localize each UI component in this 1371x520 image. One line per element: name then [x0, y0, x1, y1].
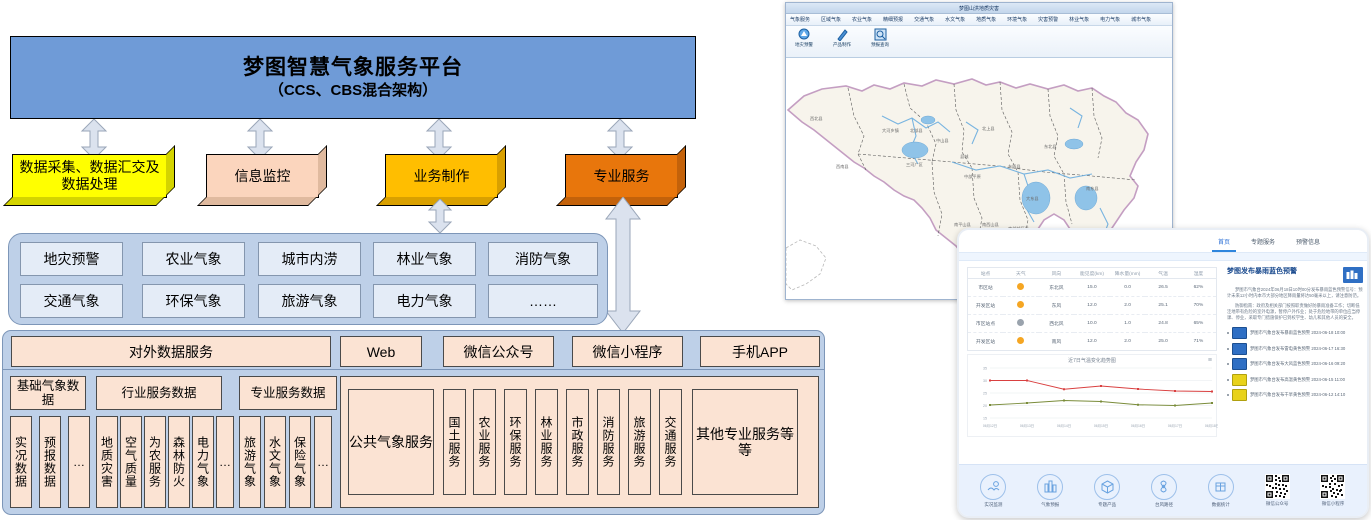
- blue-warning-icon: [1232, 358, 1247, 370]
- svg-text:25: 25: [983, 392, 987, 396]
- list-item[interactable]: 梦图市气象台发布干旱黄色预警 2024-06-12 14:10: [1227, 389, 1363, 401]
- data-item-yubao[interactable]: 预报数据: [39, 416, 61, 508]
- chart-menu-icon[interactable]: ≡: [1208, 358, 1212, 364]
- channel-panel: 对外数据服务 Web 微信公众号 微信小程序 手机APP: [2, 330, 825, 370]
- channel-wechat-official[interactable]: 微信公众号: [443, 336, 554, 367]
- toolbar-label: 预报查询: [871, 42, 889, 48]
- col-humidity: 湿度: [1181, 268, 1217, 279]
- platform-subtitle: （CCS、CBS混合架构）: [269, 81, 437, 101]
- alert-paragraph-2: 防御指南：政府及相关部门按照职责做好防暴雨准备工作；切断低洼地带有危险的室外电源…: [1227, 303, 1363, 321]
- data-item-professional-more[interactable]: …: [314, 416, 332, 508]
- footer-item-forecast[interactable]: 气象预报: [1037, 474, 1063, 508]
- footer-label: 实况监测: [984, 502, 1002, 508]
- sun-icon: [1017, 337, 1024, 344]
- col-station: 站点: [968, 268, 1004, 279]
- layer-box-label: 专业服务: [594, 168, 650, 185]
- toolbar-button-geo-hazard[interactable]: 地灾预警: [791, 28, 817, 48]
- bullet-icon: [1227, 348, 1229, 350]
- channel-mobile-app[interactable]: 手机APP: [700, 336, 820, 367]
- layer-box-label: 信息监控: [235, 168, 291, 185]
- forecast-bars-icon: [1037, 474, 1063, 500]
- footer-item-wechat-miniapp[interactable]: 微信小程序: [1320, 474, 1345, 507]
- chart-title: 近7日气温变化趋势图: [968, 355, 1216, 364]
- data-item-kongqizhiliang[interactable]: 空气质量: [120, 416, 142, 508]
- cell-visibility: 12.0: [1074, 333, 1110, 351]
- col-visibility: 能见度(km): [1074, 268, 1110, 279]
- dashboard-left-column: 站点 天气 风向 能见度(km) 降水量(mm) 气温 湿度 市区站: [967, 267, 1217, 437]
- svg-text:西北县: 西北县: [810, 115, 823, 122]
- menu-item[interactable]: 灾害预警: [1038, 16, 1058, 23]
- table-row[interactable]: 开发区站 东风 12.0 2.0 25.1 70%: [968, 297, 1217, 315]
- footer-label: 数据统计: [1212, 502, 1230, 508]
- observation-table[interactable]: 站点 天气 风向 能见度(km) 降水量(mm) 气温 湿度 市区站: [967, 267, 1217, 351]
- forecast-query-tool-icon: [874, 28, 887, 41]
- cell-station: 开发区站: [968, 333, 1004, 351]
- cell-station: 市区站: [968, 279, 1004, 297]
- industry-chip-xiaofang[interactable]: 消防气象: [488, 242, 598, 276]
- service-linye[interactable]: 林业服务: [535, 389, 558, 495]
- cell-station: 市区站点: [968, 315, 1004, 333]
- footer-label: 专题产品: [1098, 502, 1116, 508]
- temperature-trend-chart[interactable]: 近7日气温变化趋势图 ≡ 152025303506月12日06月13日06月14…: [967, 354, 1217, 437]
- arrow-header-to-business-production: [421, 119, 457, 159]
- menu-item[interactable]: 电力气象: [1100, 16, 1120, 23]
- toolbar-label: 地灾预警: [795, 42, 813, 48]
- footer-item-typhoon[interactable]: 台风路径: [1151, 474, 1177, 508]
- industry-chip-dianli[interactable]: 电力气象: [373, 284, 476, 318]
- cell-visibility: 10.0: [1074, 315, 1110, 333]
- cell-wind: 东风: [1039, 297, 1075, 315]
- alert-title: 梦图发布暴雨蓝色预警: [1227, 267, 1297, 277]
- alert-item-text: 梦图市气象台发布大风蓝色预警 2024-06-16 09:20: [1250, 361, 1345, 367]
- table-row[interactable]: 市区站点 西北风 10.0 1.0 24.8 65%: [968, 315, 1217, 333]
- weather-observation-icon: [980, 474, 1006, 500]
- cell-wind: 东北风: [1039, 279, 1075, 297]
- cell-temp: 25.0: [1145, 333, 1181, 351]
- arrow-business-to-industry-panel: [423, 199, 457, 233]
- platform-header-box: 梦图智慧气象服务平台 （CCS、CBS混合架构）: [10, 36, 696, 119]
- svg-text:中部平原: 中部平原: [964, 173, 981, 180]
- toolbar-button-product-make[interactable]: 产品制作: [829, 28, 855, 48]
- layer-box-label: 业务制作: [414, 168, 470, 185]
- blue-warning-icon: [1232, 327, 1247, 339]
- alert-list: 梦图市气象台发布暴雨蓝色预警 2024-06-18 10:00 梦图市气象台发布…: [1227, 327, 1363, 401]
- cube-product-icon: [1094, 474, 1120, 500]
- service-huanbao[interactable]: 环保服务: [504, 389, 527, 495]
- industry-service-panel: 地灾预警 农业气象 城市内涝 林业气象 消防气象 交通气象 环保气象 旅游气象 …: [8, 233, 608, 325]
- layer-box-business-production[interactable]: 业务制作: [385, 154, 498, 198]
- neighbor-region: [786, 240, 826, 290]
- qr-code-icon: [1265, 474, 1290, 499]
- footer-item-wechat-official[interactable]: 微信公众号: [1265, 474, 1290, 507]
- data-group-title-basic: 基础气象数据: [10, 376, 86, 410]
- platform-title: 梦图智慧气象服务平台: [243, 55, 463, 81]
- cell-weather: [1003, 333, 1039, 351]
- list-item[interactable]: 梦图市气象台发布暴雨蓝色预警 2024-06-18 10:00: [1227, 327, 1363, 339]
- architecture-diagram: 梦图智慧气象服务平台 （CCS、CBS混合架构） 数据采集、数据汇交及数据处理 …: [0, 0, 840, 520]
- service-lvyou[interactable]: 旅游服务: [628, 389, 651, 495]
- bullet-icon: [1227, 363, 1229, 365]
- cell-weather: [1003, 315, 1039, 333]
- svg-text:15: 15: [983, 417, 987, 421]
- menu-item[interactable]: 交通气象: [914, 16, 934, 23]
- footer-label: 气象预报: [1041, 502, 1059, 508]
- cell-wind: 南风: [1039, 333, 1075, 351]
- cell-visibility: 12.0: [1074, 297, 1110, 315]
- blue-warning-icon: [1232, 343, 1247, 355]
- data-item-dianliqixiang[interactable]: 电力气象: [192, 416, 214, 508]
- layer-box-data-collection[interactable]: 数据采集、数据汇交及数据处理: [12, 154, 167, 198]
- yellow-warning-icon: [1232, 389, 1247, 401]
- svg-text:南平山县: 南平山县: [954, 221, 971, 228]
- layer-box-professional-service[interactable]: 专业服务: [565, 154, 678, 198]
- bullet-icon: [1227, 394, 1229, 396]
- alert-item-text: 梦图市气象台发布高温黄色预警 2024-06-15 11:00: [1250, 377, 1345, 383]
- menu-item[interactable]: 气象服务: [790, 16, 810, 23]
- channel-web[interactable]: Web: [340, 336, 422, 367]
- layer-box-info-monitoring[interactable]: 信息监控: [206, 154, 319, 198]
- svg-text:北部县: 北部县: [910, 127, 923, 134]
- yellow-warning-icon: [1232, 374, 1247, 386]
- industry-chip-more[interactable]: ……: [488, 284, 598, 318]
- dashboard-body: 站点 天气 风向 能见度(km) 降水量(mm) 气温 湿度 市区站: [959, 261, 1367, 468]
- industry-chip-dizai[interactable]: 地灾预警: [20, 242, 123, 276]
- footer-item-product[interactable]: 专题产品: [1094, 474, 1120, 508]
- data-item-shuiwenqixiang[interactable]: 水文气象: [264, 416, 286, 508]
- cell-station: 开发区站: [968, 297, 1004, 315]
- data-group-title-professional: 专业服务数据: [239, 376, 337, 410]
- data-source-panel: 基础气象数据 实况数据 预报数据 … 行业服务数据 地质灾害 空气质量 为农服务…: [2, 370, 825, 515]
- dashboard-footer-bar[interactable]: 实况监测 气象预报 专题产品 台风路径: [959, 464, 1367, 516]
- footer-item-statistics[interactable]: 数据统计: [1208, 474, 1234, 508]
- footer-item-observation[interactable]: 实况监测: [980, 474, 1006, 508]
- cell-precip: 0.0: [1110, 279, 1146, 297]
- menu-item[interactable]: 林业气象: [1069, 16, 1089, 23]
- data-item-lvyouqixiang[interactable]: 旅游气象: [239, 416, 261, 508]
- product-make-tool-icon: [836, 28, 849, 41]
- menu-item[interactable]: 农业气象: [852, 16, 872, 23]
- menu-item[interactable]: 地质气象: [976, 16, 996, 23]
- alert-header: 梦图发布暴雨蓝色预警: [1227, 267, 1363, 283]
- data-item-shikuang[interactable]: 实况数据: [10, 416, 32, 508]
- list-item[interactable]: 梦图市气象台发布雷电黄色预警 2024-06-17 16:30: [1227, 343, 1363, 355]
- svg-text:南西山县: 南西山县: [982, 221, 999, 228]
- footer-label: 微信小程序: [1322, 501, 1345, 507]
- svg-text:35: 35: [983, 367, 987, 371]
- sun-icon: [1017, 301, 1024, 308]
- svg-text:东北县: 东北县: [1044, 143, 1057, 150]
- alert-item-text: 梦图市气象台发布暴雨蓝色预警 2024-06-18 10:00: [1250, 330, 1345, 336]
- svg-text:中山县: 中山县: [936, 137, 949, 144]
- svg-text:北上县: 北上县: [982, 125, 995, 132]
- cell-temp: 26.5: [1145, 279, 1181, 297]
- nav-tab-alerts[interactable]: 预警信息: [1296, 237, 1320, 246]
- cell-humidity: 70%: [1181, 297, 1217, 315]
- qr-code-icon: [1320, 474, 1345, 499]
- table-row[interactable]: 市区站 东北风 15.0 0.0 26.5 62%: [968, 279, 1217, 297]
- arrow-header-to-data-collection: [76, 119, 112, 159]
- cell-temp: 25.1: [1145, 297, 1181, 315]
- svg-text:30: 30: [983, 379, 987, 383]
- menu-item[interactable]: 水文气象: [945, 16, 965, 23]
- data-item-senlinfanghuo[interactable]: 森林防火: [168, 416, 190, 508]
- map-window-title: 梦图山洪地质灾害: [959, 5, 999, 12]
- list-item[interactable]: 梦图市气象台发布大风蓝色预警 2024-06-16 09:20: [1227, 358, 1363, 370]
- industry-chip-nongye[interactable]: 农业气象: [142, 242, 245, 276]
- data-item-weinongfuwu[interactable]: 为农服务: [144, 416, 166, 508]
- dashboard-right-column: 梦图发布暴雨蓝色预警 梦图市气象台2024年06月18日10时00分发布暴雨蓝色…: [1227, 267, 1363, 405]
- service-xiaofang[interactable]: 消防服务: [597, 389, 620, 495]
- cloud-icon: [1017, 319, 1024, 326]
- data-item-basic-more[interactable]: …: [68, 416, 90, 508]
- footer-label: 台风路径: [1155, 502, 1173, 508]
- data-item-dizhizaihai[interactable]: 地质灾害: [96, 416, 118, 508]
- service-guotu[interactable]: 国土服务: [443, 389, 466, 495]
- typhoon-track-icon: [1151, 474, 1177, 500]
- cell-precip: 2.0: [1110, 297, 1146, 315]
- bullet-icon: [1227, 332, 1229, 334]
- layer-box-label: 数据采集、数据汇交及数据处理: [17, 159, 162, 193]
- svg-text:06月14日: 06月14日: [1057, 424, 1071, 428]
- toolbar-label: 产品制作: [833, 42, 851, 48]
- col-temp: 气温: [1145, 268, 1181, 279]
- data-item-baoxianqixiang[interactable]: 保险气象: [289, 416, 311, 508]
- arrow-header-to-info-monitoring: [242, 119, 278, 159]
- footer-label: 微信公众号: [1266, 501, 1289, 507]
- data-item-industry-more[interactable]: …: [216, 416, 234, 508]
- industry-chip-linye[interactable]: 林业气象: [373, 242, 476, 276]
- alert-item-text: 梦图市气象台发布干旱黄色预警 2024-06-12 14:10: [1250, 392, 1345, 398]
- cell-precip: 1.0: [1110, 315, 1146, 333]
- col-precip: 降水量(mm): [1110, 268, 1146, 279]
- svg-text:东阳县: 东阳县: [1008, 163, 1021, 170]
- bullet-icon: [1227, 379, 1229, 381]
- rainstorm-blue-warning-icon: [1343, 267, 1363, 283]
- service-nongye[interactable]: 农业服务: [473, 389, 496, 495]
- chart-plot-area: 152025303506月12日06月13日06月14日06月15日06月16日…: [968, 364, 1218, 430]
- svg-text:06月18日: 06月18日: [1205, 424, 1218, 428]
- cell-humidity: 62%: [1181, 279, 1217, 297]
- svg-text:大河乡镇: 大河乡镇: [882, 127, 899, 134]
- cell-weather: [1003, 279, 1039, 297]
- col-wind: 风向: [1039, 268, 1075, 279]
- table-row[interactable]: 开发区站 南风 12.0 2.0 25.0 71%: [968, 333, 1217, 351]
- svg-text:南东县: 南东县: [1086, 185, 1099, 192]
- dashboard-banner: [959, 252, 1367, 261]
- cell-wind: 西北风: [1039, 315, 1075, 333]
- menu-item[interactable]: 环境气象: [1007, 16, 1027, 23]
- col-weather: 天气: [1003, 268, 1039, 279]
- arrow-header-to-professional-service: [602, 119, 638, 159]
- list-item[interactable]: 梦图市气象台发布高温黄色预警 2024-06-15 11:00: [1227, 374, 1363, 386]
- table-header-row: 站点 天气 风向 能见度(km) 降水量(mm) 气温 湿度: [968, 268, 1217, 279]
- statistics-icon: [1208, 474, 1234, 500]
- menu-item[interactable]: 城市气象: [1131, 16, 1151, 23]
- cell-humidity: 71%: [1181, 333, 1217, 351]
- arrow-professional-to-channels: [602, 197, 644, 333]
- dashboard-navbar[interactable]: 首页 专题服务 预警信息: [959, 230, 1367, 252]
- service-other-professional[interactable]: 其他专业服务等等: [692, 389, 798, 495]
- cell-visibility: 15.0: [1074, 279, 1110, 297]
- map-menubar[interactable]: 气象服务 区域气象 农业气象 精细预报 交通气象 水文气象 地质气象 环境气象 …: [786, 14, 1172, 26]
- menu-item[interactable]: 区域气象: [821, 16, 841, 23]
- channel-external-data-service[interactable]: 对外数据服务: [11, 336, 331, 367]
- geo-hazard-tool-icon: [798, 28, 811, 41]
- svg-text:西南县: 西南县: [836, 163, 849, 170]
- cell-humidity: 65%: [1181, 315, 1217, 333]
- svg-text:06月16日: 06月16日: [1131, 424, 1145, 428]
- industry-chip-huanbao[interactable]: 环保气象: [142, 284, 245, 318]
- service-jiaotong[interactable]: 交通服务: [659, 389, 682, 495]
- svg-text:大东县: 大东县: [1026, 195, 1039, 202]
- service-shizheng[interactable]: 市政服务: [566, 389, 589, 495]
- cell-weather: [1003, 297, 1039, 315]
- channel-wechat-miniapp[interactable]: 微信小程序: [572, 336, 683, 367]
- industry-chip-lvyou[interactable]: 旅游气象: [258, 284, 361, 318]
- svg-text:06月12日: 06月12日: [983, 424, 997, 428]
- toolbar-button-forecast-query[interactable]: 预报查询: [867, 28, 893, 48]
- industry-chip-jiaotong[interactable]: 交通气象: [20, 284, 123, 318]
- map-toolbar[interactable]: 地灾预警 产品制作 预报查询: [786, 26, 1172, 58]
- alert-item-text: 梦图市气象台发布雷电黄色预警 2024-06-17 16:30: [1250, 346, 1345, 352]
- nav-tab-special-service[interactable]: 专题服务: [1251, 237, 1275, 246]
- sun-icon: [1017, 283, 1024, 290]
- nav-tab-home[interactable]: 首页: [1218, 237, 1230, 246]
- svg-text:06月17日: 06月17日: [1168, 424, 1182, 428]
- service-dashboard-window[interactable]: 首页 专题服务 预警信息 站点 天气 风向 能见度(km) 降水量(mm) 气温: [957, 228, 1369, 518]
- cell-precip: 2.0: [1110, 333, 1146, 351]
- cell-temp: 24.8: [1145, 315, 1181, 333]
- svg-text:20: 20: [983, 404, 987, 408]
- svg-text:06月15日: 06月15日: [1094, 424, 1108, 428]
- data-group-title-industry: 行业服务数据: [96, 376, 222, 410]
- map-window-titlebar: 梦图山洪地质灾害: [786, 3, 1172, 14]
- industry-chip-chengshineilao[interactable]: 城市内涝: [258, 242, 361, 276]
- svg-text:06月13日: 06月13日: [1020, 424, 1034, 428]
- svg-text:三河广区: 三河广区: [906, 161, 923, 168]
- alert-paragraph-1: 梦图市气象台2024年06月18日10时00分发布暴雨蓝色预警信号：预计未来12…: [1227, 287, 1363, 299]
- menu-item[interactable]: 精细预报: [883, 16, 903, 23]
- service-public-weather[interactable]: 公共气象服务: [348, 389, 434, 495]
- svg-text:县城: 县城: [960, 153, 969, 160]
